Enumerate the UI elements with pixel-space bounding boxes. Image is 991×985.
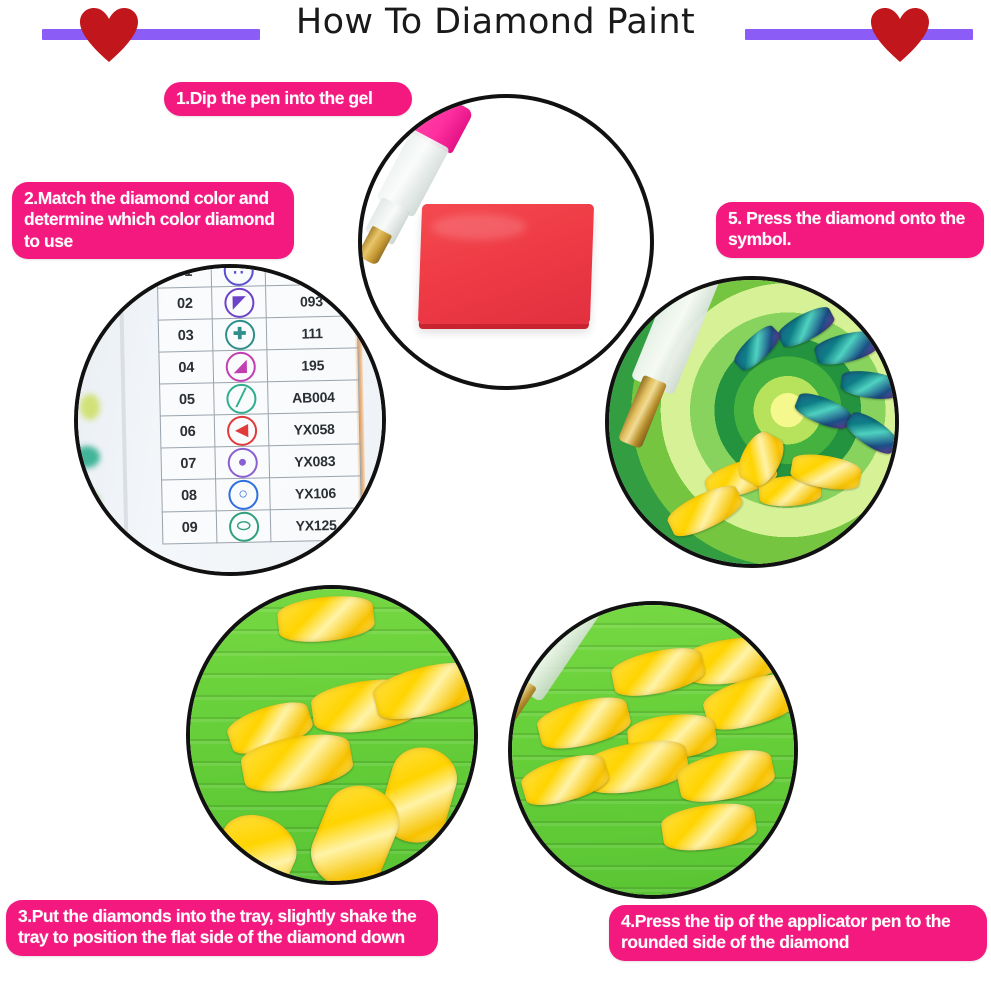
dot-ring-icon: ● [215, 446, 270, 479]
chart-row-code: YX058 [268, 412, 359, 446]
chart-row: 07●YX083 [161, 444, 361, 480]
color-chart-table: 01∴02802◤09303✚11104◢19505╱AB00406◀YX058… [156, 264, 362, 545]
left-arrow-icon: ◀ [214, 414, 269, 447]
chart-row-number: 02 [158, 287, 213, 320]
step-4-label: 4.Press the tip of the applicator pen to… [609, 905, 987, 961]
chart-row-code: 028 [265, 264, 356, 286]
plus-icon: ✚ [212, 318, 267, 351]
chart-row-code: YX106 [270, 476, 361, 510]
chart-row: 04◢195 [159, 348, 359, 384]
chart-row-number: 06 [160, 415, 215, 448]
chart-row-code: YX083 [269, 444, 360, 478]
step-2-label: 2.Match the diamond color and determine … [12, 182, 294, 259]
circle-dots-icon: ∴ [211, 264, 266, 287]
step-5-photo [605, 276, 899, 568]
chart-row: 05╱AB004 [160, 380, 360, 416]
chart-row: 06◀YX058 [160, 412, 360, 448]
step-5-label: 5. Press the diamond onto the symbol. [716, 202, 984, 258]
chart-row: 09⬭YX125 [162, 508, 362, 544]
triangle-right-icon: ◤ [212, 286, 267, 319]
leaf-icon: ⬭ [216, 510, 271, 543]
chart-row: 08○YX106 [162, 476, 362, 512]
chart-row: 02◤093 [158, 284, 358, 320]
chart-row-number: 03 [158, 319, 213, 352]
chart-row-code: 195 [267, 348, 358, 382]
triangle-down-icon: ◢ [213, 350, 268, 383]
slash-oval-icon: ╱ [214, 382, 269, 415]
gel-pad [418, 204, 594, 324]
step-3-label: 3.Put the diamonds into the tray, slight… [6, 900, 438, 956]
chart-row-number: 07 [161, 447, 216, 480]
page-title: How To Diamond Paint [0, 2, 991, 42]
donut-icon: ○ [216, 478, 271, 511]
chart-row-number: 08 [162, 479, 217, 512]
step-2-photo: 01∴02802◤09303✚11104◢19505╱AB00406◀YX058… [74, 264, 386, 576]
step-4-photo [508, 601, 798, 899]
infographic-page: How To Diamond Paint 1.Dip the pen into … [0, 0, 991, 985]
step-3-photo [186, 585, 478, 885]
blurred-gems [78, 388, 124, 538]
chart-row-code: YX125 [270, 508, 361, 542]
chart-row-code: 111 [266, 316, 357, 350]
chart-row-number: 04 [159, 351, 214, 384]
chart-row: 03✚111 [158, 316, 358, 352]
chart-row-number: 01 [157, 264, 212, 288]
chart-row-code: AB004 [268, 380, 359, 414]
page-header: How To Diamond Paint [0, 0, 991, 62]
pen-tip [618, 375, 667, 449]
chart-row-code: 093 [266, 284, 357, 318]
chart-row-number: 05 [160, 383, 215, 416]
chart-row-number: 09 [162, 511, 217, 544]
